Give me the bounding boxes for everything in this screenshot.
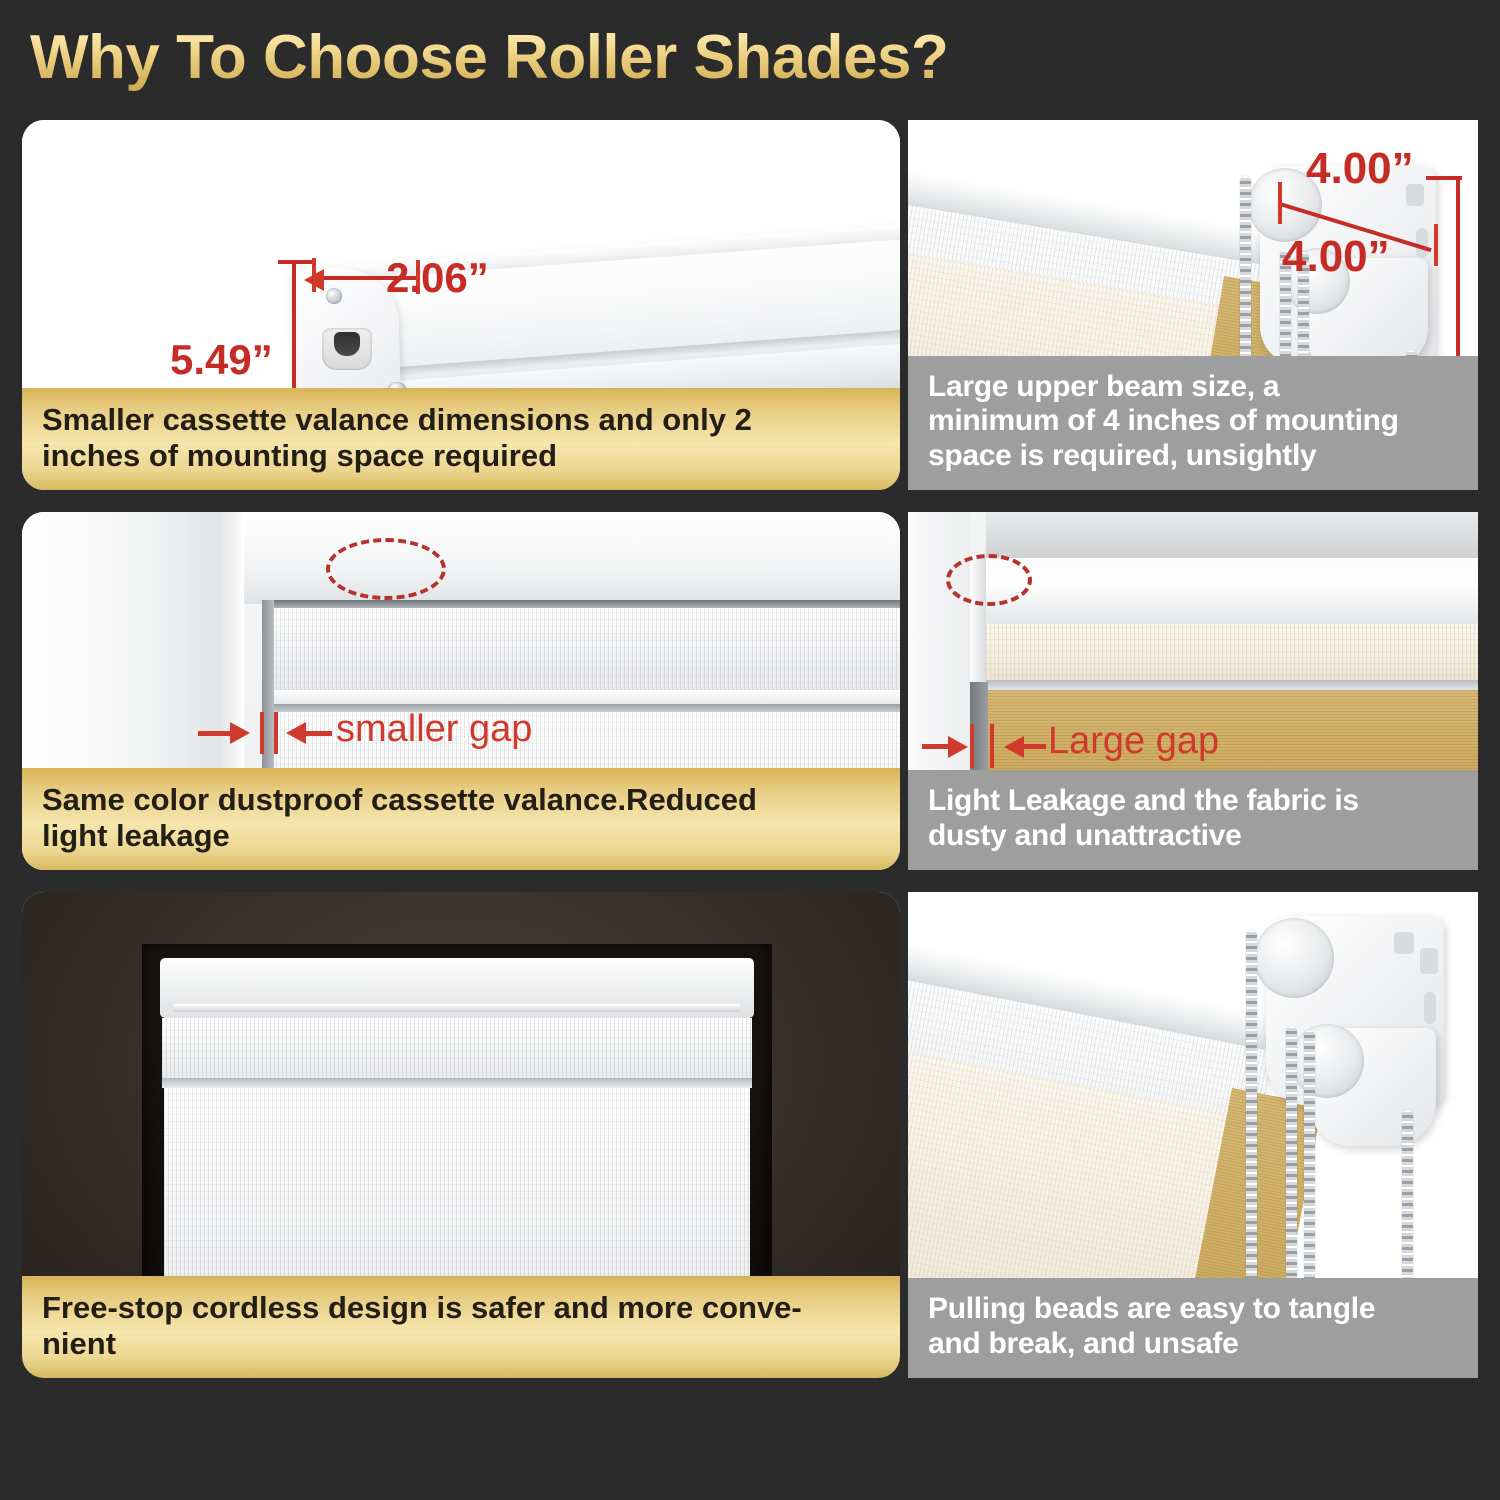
- panel-large-upper-beam: 4.00” 4.00” Large upper beam size, a min…: [908, 120, 1478, 490]
- panel-1-caption: Smaller cassette valance dimensions and …: [22, 388, 900, 490]
- end-cap-slot-opening: [334, 332, 360, 356]
- gap-arrow-stem-left: [922, 744, 950, 749]
- panel-cordless-design: Free-stop cordless design is safer and m…: [22, 892, 900, 1378]
- height-dimension-label: 5.49”: [170, 336, 273, 384]
- gap-arrow-stem-left: [198, 731, 232, 736]
- panel-5-caption: Free-stop cordless design is safer and m…: [22, 1276, 900, 1378]
- caption-line: minimum of 4 inches of mounting: [928, 404, 1460, 439]
- beam-width-label: 4.00”: [1306, 144, 1414, 194]
- caption-line: Pulling beads are easy to tangle: [928, 1292, 1460, 1327]
- roller-end-cap: [1254, 918, 1334, 998]
- gap-tick-left: [970, 724, 974, 768]
- beam-height-label: 4.00”: [1282, 232, 1390, 282]
- bracket-slot-icon: [1416, 228, 1428, 258]
- gap-arrow-stem-right: [306, 731, 332, 736]
- panel-6-caption: Pulling beads are easy to tangle and bre…: [908, 1278, 1478, 1378]
- panel-pulling-beads: Pulling beads are easy to tangle and bre…: [908, 892, 1478, 1378]
- caption-line: dusty and unattractive: [928, 819, 1460, 854]
- fabric-shadow-line: [986, 680, 1478, 690]
- gap-callout-label: Large gap: [1048, 720, 1219, 763]
- caption-line: space is required, unsightly: [928, 439, 1460, 474]
- width-dimension-label: 2.06”: [386, 254, 489, 302]
- bracket-slot-icon: [1420, 948, 1438, 974]
- gap-tick-right: [990, 724, 994, 768]
- window-frame-left: [908, 512, 970, 802]
- caption-line: Light Leakage and the fabric is: [928, 784, 1460, 819]
- gap-arrow-right-icon: [230, 722, 250, 744]
- gap-arrow-stem-right: [1024, 744, 1046, 749]
- panel-dustproof-cassette: smaller gap Same color dustproof cassett…: [22, 512, 900, 870]
- beam-height-tick-top: [1426, 176, 1462, 180]
- height-dimension-tick-top: [278, 260, 312, 264]
- valance-lip: [272, 690, 900, 704]
- ceiling-shadow: [986, 512, 1478, 558]
- gap-tick-right: [274, 712, 278, 754]
- panel-smaller-cassette: 2.06” 5.49” Smaller cassette valance dim…: [22, 120, 900, 490]
- gap-arrow-left-icon: [286, 722, 306, 744]
- caption-line: Smaller cassette valance dimensions and …: [42, 402, 882, 438]
- valance-shadow-line: [162, 1078, 752, 1088]
- beam-width-tick-right: [1434, 224, 1438, 266]
- bracket-slot-icon: [1394, 932, 1414, 954]
- cassette-seam: [174, 1004, 740, 1012]
- width-dimension-tick-left: [312, 258, 316, 292]
- gap-arrow-right-icon: [948, 736, 968, 758]
- highlight-ellipse: [326, 538, 446, 600]
- roller-end-cap-lower: [1290, 1024, 1364, 1098]
- panel-3-caption: Same color dustproof cassette valance.Re…: [22, 768, 900, 870]
- caption-line: inches of mounting space required: [42, 438, 882, 474]
- highlight-ellipse: [946, 554, 1032, 606]
- cream-fabric-band: [986, 624, 1478, 682]
- cassette-valance-face: [272, 608, 900, 690]
- screw-icon: [326, 288, 342, 304]
- gap-tick-left: [260, 712, 264, 754]
- caption-line: and break, and unsafe: [928, 1327, 1460, 1362]
- caption-line: Same color dustproof cassette valance.Re…: [42, 782, 882, 818]
- caption-line: nient: [42, 1326, 882, 1362]
- infographic-root: Why To Choose Roller Shades? 2.06”: [0, 0, 1500, 1500]
- caption-line: Large upper beam size, a: [928, 370, 1460, 405]
- valance-fabric-band: [162, 1018, 752, 1080]
- panel-light-leakage: Large gap Light Leakage and the fabric i…: [908, 512, 1478, 870]
- gap-callout-label: smaller gap: [336, 708, 532, 751]
- panel-4-caption: Light Leakage and the fabric is dusty an…: [908, 770, 1478, 870]
- caption-line: light leakage: [42, 818, 882, 854]
- panel-2-caption: Large upper beam size, a minimum of 4 in…: [908, 356, 1478, 490]
- caption-line: Free-stop cordless design is safer and m…: [42, 1290, 882, 1326]
- cassette-shadow-line: [272, 600, 900, 608]
- gap-arrow-left-icon: [1004, 736, 1024, 758]
- page-title: Why To Choose Roller Shades?: [30, 22, 1130, 94]
- bracket-slot-icon: [1424, 992, 1436, 1024]
- roller-tube: [986, 558, 1478, 626]
- beam-width-tick-left: [1278, 182, 1282, 224]
- beam-height-dimension-line: [1456, 176, 1460, 368]
